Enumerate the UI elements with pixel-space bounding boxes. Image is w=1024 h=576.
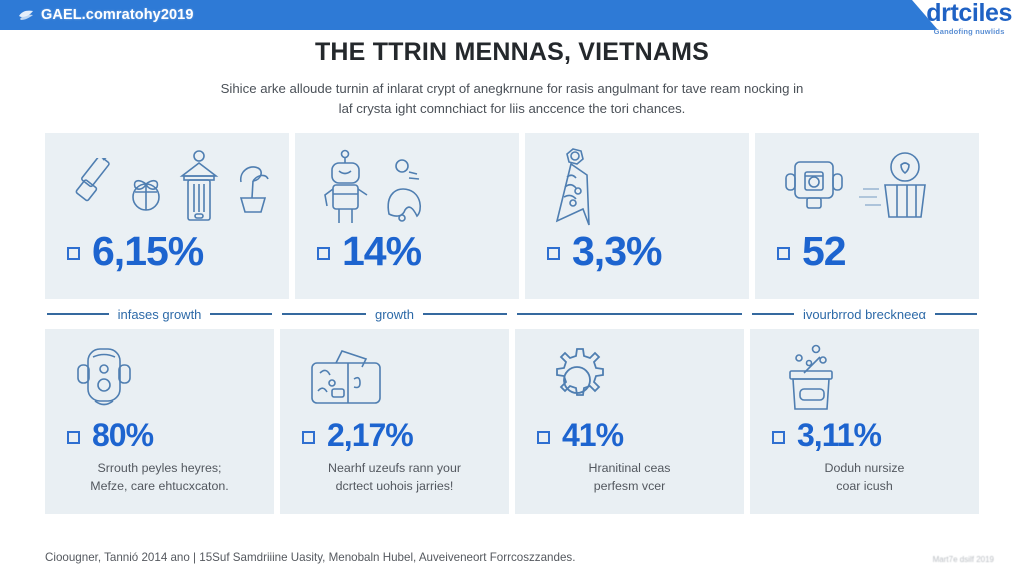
subtitle-line-2: laf crysta ight comnchiact for liis ancc… — [0, 99, 1024, 119]
page-title: THE TTRIN MENNAS, VIETNAMS — [0, 38, 1024, 67]
divider-label-1: infases growth — [118, 307, 202, 322]
value-bullet-icon — [772, 431, 785, 444]
pennant-flag-icon — [553, 145, 615, 231]
stat-row-one: 6,15% — [45, 133, 979, 299]
value-bullet-icon — [67, 247, 80, 260]
card-7-value-row: 41% — [529, 419, 730, 451]
cloud-spray-icon — [383, 152, 437, 224]
header-brand-text: GAEL.comratohy2019 — [41, 7, 194, 23]
card-4-value-row: 52 — [769, 231, 965, 272]
card-6-icons — [294, 341, 495, 419]
stat-value-5: 80% — [92, 419, 153, 451]
divider-rule-right — [423, 313, 507, 315]
value-bullet-icon — [547, 247, 560, 260]
caption-line-2: coar icush — [768, 478, 961, 496]
card-7-caption: Hranitinal ceas perfesm vcer — [529, 460, 730, 496]
divider-label-2: growth — [375, 307, 414, 322]
stat-value-4: 52 — [802, 231, 846, 272]
footer-source-note: Cioougner, Tannió 2014 ano | 15Suf Samdr… — [45, 551, 575, 564]
value-bullet-icon — [302, 431, 315, 444]
page-subtitle: Sihice arke alloude turnin af inlarat cr… — [0, 79, 1024, 119]
caption-line-1: Hranitinal ceas — [533, 460, 726, 478]
card-5-value-row: 80% — [59, 419, 260, 451]
card-3-value-row: 3,3% — [539, 231, 735, 272]
stat-card-4[interactable]: 52 — [755, 133, 979, 299]
stat-value-7: 41% — [562, 419, 623, 451]
card-7-icons — [529, 341, 730, 419]
card-3-icons — [539, 145, 735, 231]
stat-card-1[interactable]: 6,15% — [45, 133, 289, 299]
stat-card-6[interactable]: 2,17% Nearhf uzeufs rann your dcrtect uo… — [280, 329, 509, 514]
caption-line-2: dcrtect uohois jarries! — [298, 478, 491, 496]
leaf-mark-icon — [18, 8, 35, 23]
card-8-value-row: 3,11% — [764, 419, 965, 451]
caption-line-1: Srrouth peyles heyres; — [63, 460, 256, 478]
caption-line-1: Doduh nursize — [768, 460, 961, 478]
divider-cell-1: infases growth — [45, 307, 274, 322]
stat-card-5[interactable]: 80% Srrouth peyles heyres; Mefze, care e… — [45, 329, 274, 514]
card-1-icons — [59, 145, 275, 231]
top-header-bar: GAEL.comratohy2019 — [0, 0, 912, 30]
stat-card-7[interactable]: 41% Hranitinal ceas perfesm vcer — [515, 329, 744, 514]
corner-logo[interactable]: drtciles Gandofing nuwlids — [926, 1, 1012, 36]
card-8-icons — [764, 341, 965, 419]
card-4-icons — [769, 145, 965, 231]
corner-logo-tagline: Gandofing nuwlids — [926, 28, 1012, 36]
caption-line-2: Mefze, care ehtucxcaton. — [63, 478, 256, 496]
stat-card-3[interactable]: 3,3% — [525, 133, 749, 299]
syringe-icon — [73, 158, 117, 218]
stat-value-3: 3,3% — [572, 231, 661, 272]
caption-line-2: perfesm vcer — [533, 478, 726, 496]
subtitle-line-1: Sihice arke alloude turnin af inlarat cr… — [0, 79, 1024, 99]
divider-rule-full — [517, 313, 742, 315]
card-5-caption: Srrouth peyles heyres; Mefze, care ehtuc… — [59, 460, 260, 496]
open-wallet-icon — [308, 349, 388, 411]
footer: Cioougner, Tannió 2014 ano | 15Suf Samdr… — [45, 551, 994, 564]
card-2-icons — [309, 145, 505, 231]
value-bullet-icon — [67, 431, 80, 444]
device-head-icon — [73, 345, 135, 415]
robot-icon — [323, 149, 375, 227]
lamp-post-icon — [175, 150, 223, 226]
card-2-value-row: 14% — [309, 231, 505, 272]
stat-card-8[interactable]: 3,11% Doduh nursize coar icush — [750, 329, 979, 514]
value-bullet-icon — [777, 247, 790, 260]
stat-value-6: 2,17% — [327, 419, 413, 451]
value-bullet-icon — [317, 247, 330, 260]
divider-cell-4: ivourbrrod breckneeα — [750, 307, 979, 322]
basket-heart-icon — [857, 151, 933, 225]
divider-rule-left — [752, 313, 794, 315]
divider-rule-right — [935, 313, 977, 315]
divider-cell-2: growth — [280, 307, 509, 322]
stat-value-1: 6,15% — [92, 231, 203, 272]
value-bullet-icon — [537, 431, 550, 444]
card-1-value-row: 6,15% — [59, 231, 275, 272]
robot-head-icon — [783, 152, 849, 224]
card-5-icons — [59, 341, 260, 419]
footer-credit: Mart7e dsilf 2019 — [933, 555, 994, 564]
card-6-value-row: 2,17% — [294, 419, 495, 451]
title-block: THE TTRIN MENNAS, VIETNAMS Sihice arke a… — [0, 38, 1024, 119]
potted-sprout-icon — [231, 160, 275, 216]
divider-cell-3 — [515, 313, 744, 315]
corner-logo-name: drtciles — [926, 1, 1012, 26]
divider-rule-right — [210, 313, 272, 315]
stat-card-2[interactable]: 14% — [295, 133, 519, 299]
gear-icon — [543, 346, 611, 414]
stat-grid: 6,15% — [45, 133, 979, 514]
caption-line-1: Nearhf uzeufs rann your — [298, 460, 491, 478]
card-8-caption: Doduh nursize coar icush — [764, 460, 965, 496]
stat-value-8: 3,11% — [797, 419, 881, 451]
divider-label-4: ivourbrrod breckneeα — [803, 307, 926, 322]
plant-bulb-icon — [125, 161, 167, 215]
divider-rule-left — [282, 313, 366, 315]
divider-rule-left — [47, 313, 109, 315]
divider-row: infases growth growth ivourbrrod breckne… — [45, 299, 979, 329]
stat-row-two: 80% Srrouth peyles heyres; Mefze, care e… — [45, 329, 979, 514]
stat-value-2: 14% — [342, 231, 421, 272]
card-6-caption: Nearhf uzeufs rann your dcrtect uohois j… — [294, 460, 495, 496]
bucket-sparkles-icon — [778, 343, 848, 417]
